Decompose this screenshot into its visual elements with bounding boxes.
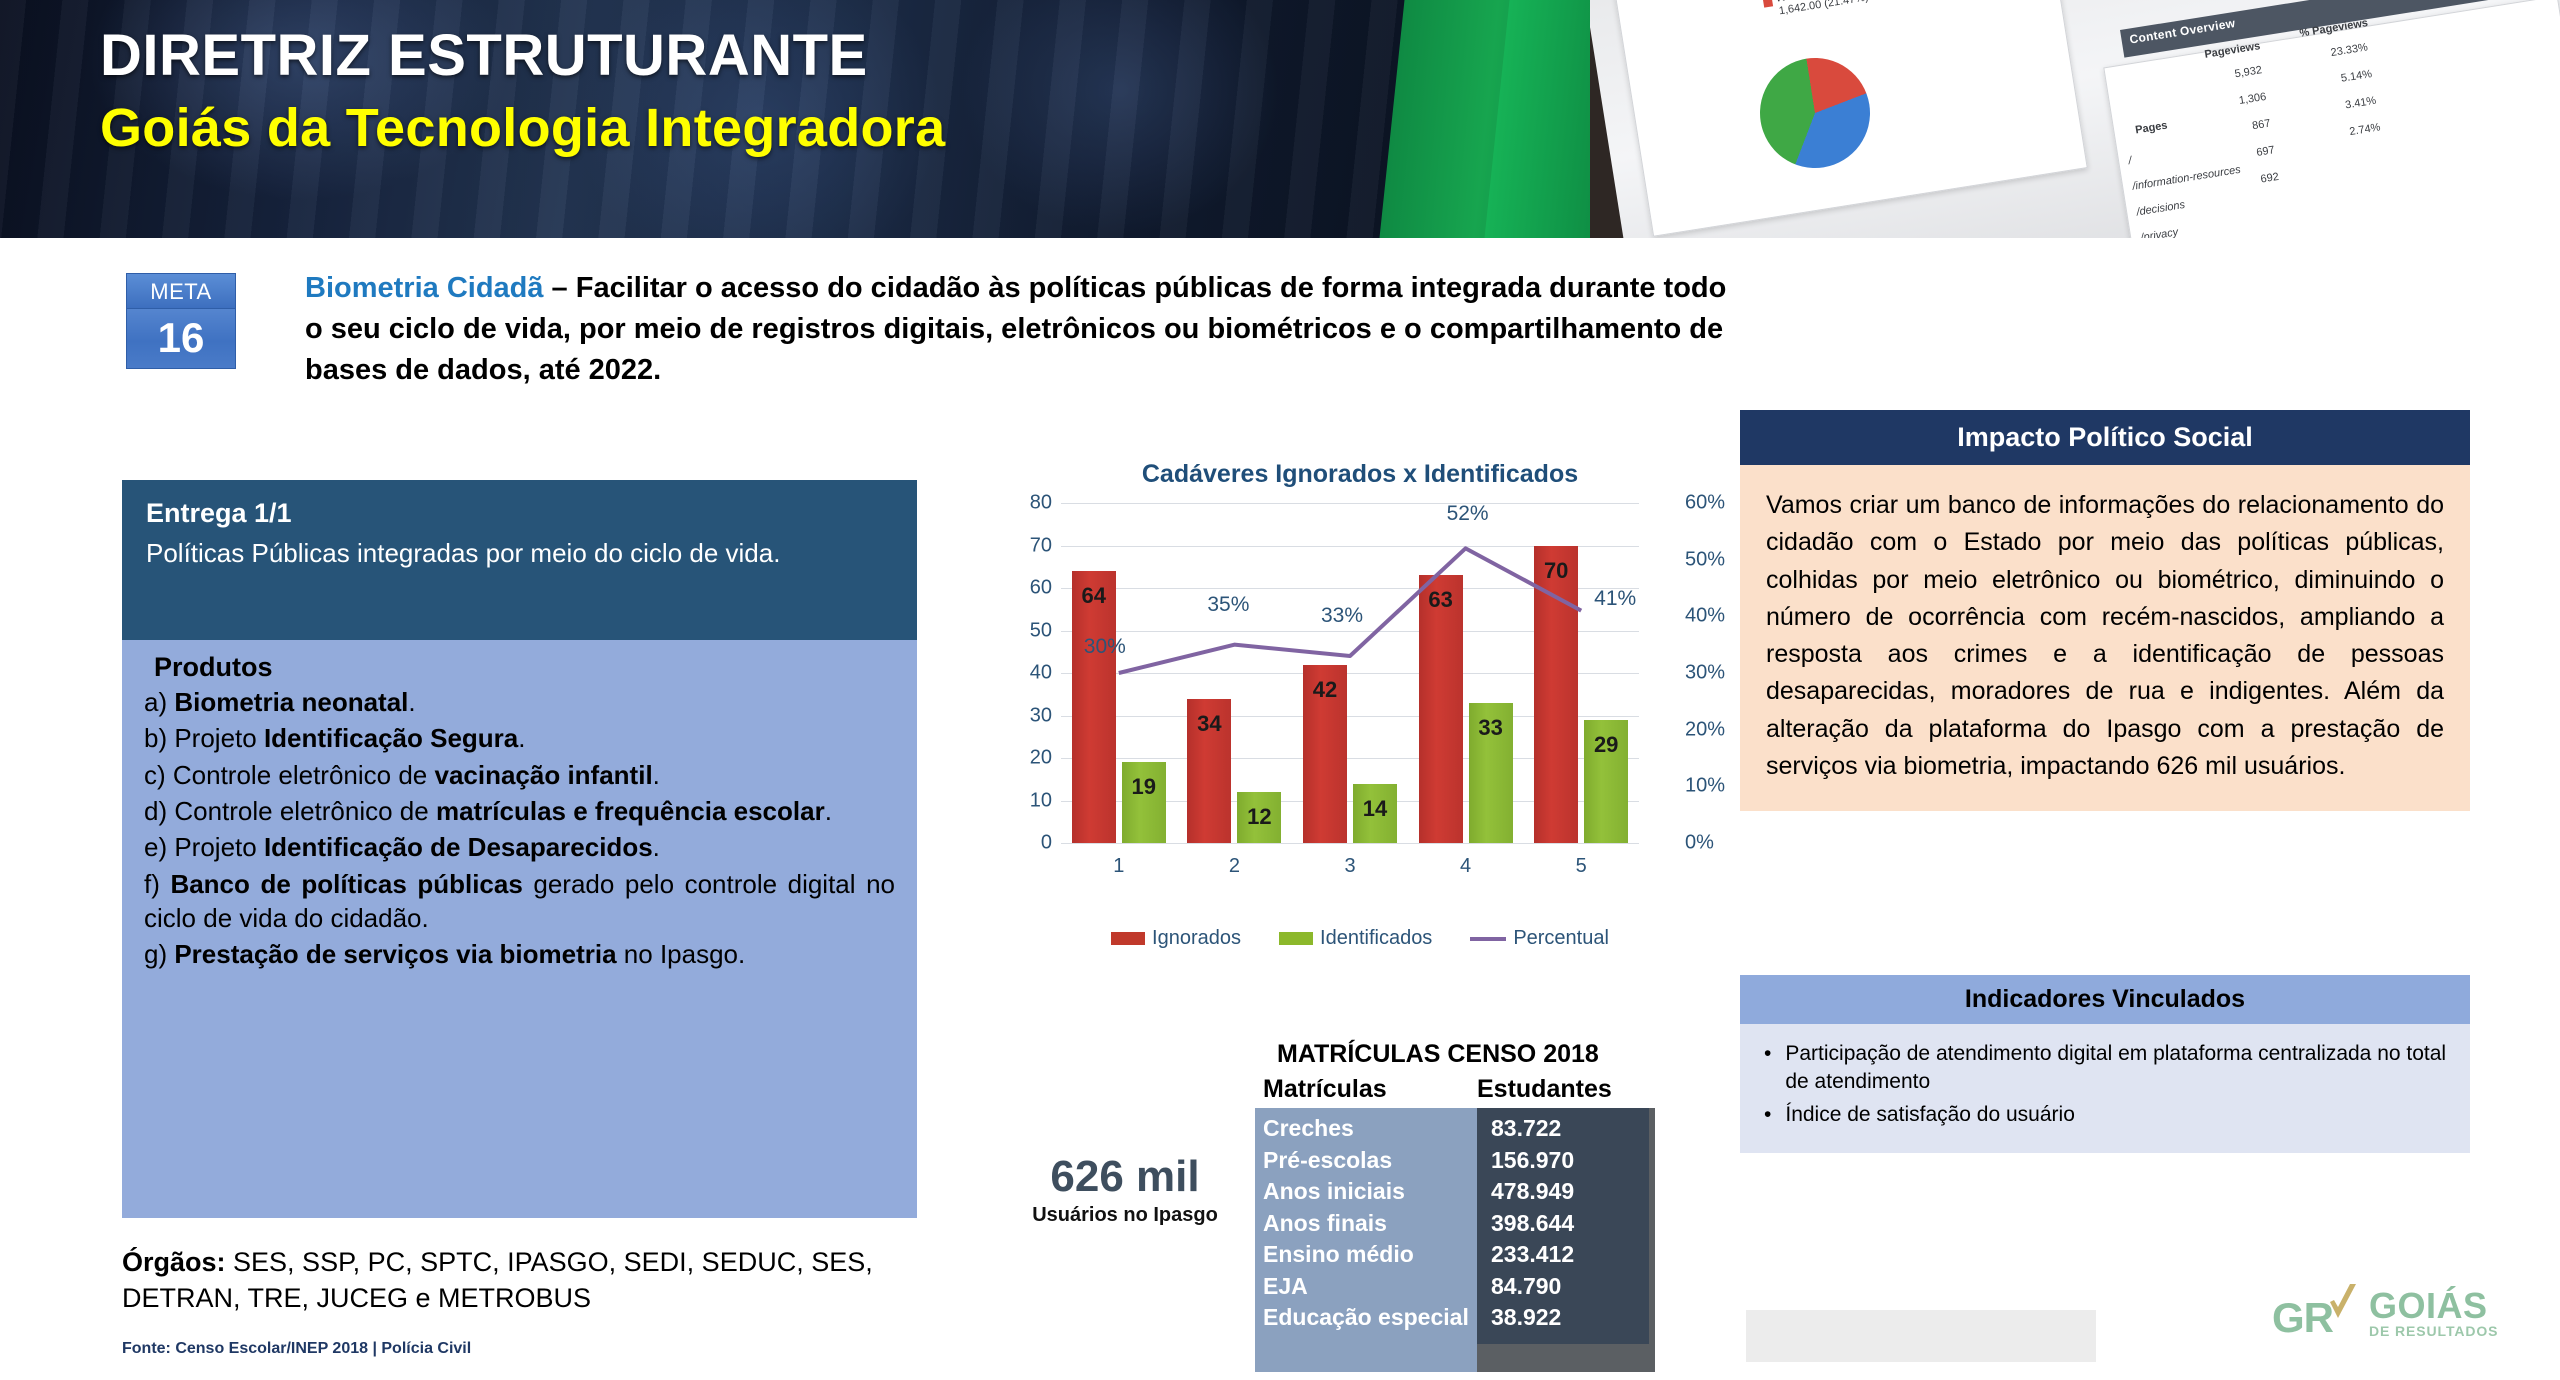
- matriculas-row-value: 84.790: [1491, 1271, 1649, 1303]
- page-subtitle: Goiás da Tecnologia Integradora: [100, 99, 945, 158]
- chart-y2-tick: 60%: [1685, 492, 1725, 515]
- produto-highlight: matrículas e frequência escolar: [436, 796, 825, 826]
- produto-prefix: a): [144, 687, 174, 717]
- legend-swatch-ignorados: [1111, 932, 1145, 945]
- produtos-panel: Produtos a) Biometria neonatal.b) Projet…: [122, 640, 917, 1218]
- content-col-pages-label: Pages: [2134, 120, 2168, 137]
- indicador-text: Índice de satisfação do usuário: [1785, 1101, 2075, 1129]
- produto-prefix: g): [144, 939, 174, 969]
- empty-placeholder-box: [1746, 1310, 2096, 1362]
- produto-item: b) Projeto Identificação Segura.: [144, 721, 895, 755]
- impacto-text: Vamos criar um banco de informações do r…: [1740, 465, 2470, 811]
- chart-percent-label: 41%: [1594, 587, 1636, 611]
- chart-title: Cadáveres Ignorados x Identificados: [995, 460, 1725, 489]
- legend-label-percentual: Percentual: [1513, 927, 1609, 950]
- produto-suffix: .: [653, 760, 660, 790]
- big-number-block: 626 mil Usuários no Ipasgo: [1000, 1152, 1250, 1227]
- logo-goias-text: GOIÁS: [2369, 1285, 2488, 1326]
- chart-y-tick: 80: [1030, 492, 1052, 515]
- entrega-text: Políticas Públicas integradas por meio d…: [146, 536, 893, 571]
- logo-gr-text: GR: [2272, 1297, 2333, 1339]
- legend-item-percentual: Percentual: [1470, 927, 1609, 950]
- produto-suffix: .: [408, 687, 415, 717]
- produto-prefix: f): [144, 869, 170, 899]
- produto-highlight: Identificação de Desaparecidos: [264, 832, 653, 862]
- cadaveres-chart: Cadáveres Ignorados x Identificados 0102…: [995, 460, 1725, 960]
- chart-y-tick: 40: [1030, 662, 1052, 685]
- produto-highlight: Identificação Segura: [264, 723, 518, 753]
- chart-plot: 010203040506070800%10%20%30%40%50%60%641…: [1061, 503, 1639, 843]
- chart-plot-area: 010203040506070800%10%20%30%40%50%60%641…: [995, 493, 1725, 893]
- chart-y-tick: 30: [1030, 704, 1052, 727]
- chart-y2-tick: 50%: [1685, 548, 1725, 571]
- indicadores-title: Indicadores Vinculados: [1740, 975, 2470, 1024]
- produto-prefix: d) Controle eletrônico de: [144, 796, 436, 826]
- legend-item-ignorados: Ignorados: [1111, 927, 1241, 950]
- chart-y2-tick: 20%: [1685, 718, 1725, 741]
- chart-x-tick: 2: [1229, 855, 1240, 878]
- chart-x-tick: 1: [1113, 855, 1124, 878]
- big-number-caption: Usuários no Ipasgo: [1000, 1204, 1250, 1227]
- produto-prefix: e) Projeto: [144, 832, 264, 862]
- chart-percentual-line: [1061, 503, 1639, 843]
- legend-label-identificados: Identificados: [1320, 927, 1432, 950]
- page-title: DIRETRIZ ESTRUTURANTE: [100, 26, 945, 87]
- produto-suffix: .: [518, 723, 525, 753]
- legend-line-percentual: [1470, 937, 1506, 941]
- matriculas-row-value: 38.922: [1491, 1302, 1649, 1334]
- chart-percent-label: 33%: [1321, 604, 1363, 628]
- indicador-text: Participação de atendimento digital em p…: [1785, 1040, 2450, 1097]
- produto-item: g) Prestação de serviços via biometria n…: [144, 937, 895, 971]
- meta-highlight: Biometria Cidadã: [305, 272, 544, 304]
- chart-gridline: [1061, 843, 1639, 844]
- matriculas-row-label: Creches: [1263, 1113, 1477, 1145]
- produto-suffix: .: [825, 796, 832, 826]
- matriculas-row-value: 233.412: [1491, 1239, 1649, 1271]
- produto-highlight: Biometria neonatal: [174, 687, 408, 717]
- chart-y-tick: 50: [1030, 619, 1052, 642]
- chart-y-tick: 60: [1030, 577, 1052, 600]
- entrega-panel: Entrega 1/1 Políticas Públicas integrada…: [122, 480, 917, 640]
- chart-y-tick: 70: [1030, 534, 1052, 557]
- chart-y2-tick: 10%: [1685, 775, 1725, 798]
- matriculas-row-value: 83.722: [1491, 1113, 1649, 1145]
- matriculas-col-header-0: Matrículas: [1255, 1075, 1477, 1104]
- matriculas-labels-column: CrechesPré-escolasAnos iniciaisAnos fina…: [1255, 1108, 1477, 1372]
- chart-y-tick: 0: [1041, 832, 1052, 855]
- chart-percent-label: 35%: [1207, 593, 1249, 617]
- orgaos-line: Órgãos: SES, SSP, PC, SPTC, IPASGO, SEDI…: [122, 1245, 952, 1316]
- produtos-list: a) Biometria neonatal.b) Projeto Identif…: [144, 685, 895, 972]
- logo-right-block: GOIÁS DE RESULTADOS: [2369, 1288, 2498, 1339]
- produto-highlight: Banco de políticas públicas: [170, 869, 522, 899]
- meta-badge: META 16: [126, 273, 236, 369]
- indicador-item: •Participação de atendimento digital em …: [1764, 1040, 2450, 1097]
- legend-swatch-identificados: [1279, 932, 1313, 945]
- chart-y2-tick: 40%: [1685, 605, 1725, 628]
- matriculas-row-value: 156.970: [1491, 1145, 1649, 1177]
- matriculas-body: CrechesPré-escolasAnos iniciaisAnos fina…: [1255, 1108, 1655, 1372]
- chart-y2-tick: 30%: [1685, 662, 1725, 685]
- header-title-block: DIRETRIZ ESTRUTURANTE Goiás da Tecnologi…: [100, 26, 945, 158]
- produto-item: d) Controle eletrônico de matrículas e f…: [144, 794, 895, 828]
- matriculas-row-value: 398.644: [1491, 1208, 1649, 1240]
- header-banner: Traffic Source Overview Direct 3,097.00 …: [0, 0, 2560, 238]
- big-number-value: 626 mil: [1000, 1152, 1250, 1202]
- matriculas-row-label: Ensino médio: [1263, 1239, 1477, 1271]
- produto-suffix: no Ipasgo.: [617, 939, 746, 969]
- checkmark-icon: [2326, 1284, 2360, 1322]
- impacto-politico-social-panel: Impacto Político Social Vamos criar um b…: [1740, 410, 2470, 811]
- chart-x-tick: 4: [1460, 855, 1471, 878]
- produto-item: f) Banco de políticas públicas gerado pe…: [144, 867, 895, 936]
- matriculas-row-label: Anos iniciais: [1263, 1176, 1477, 1208]
- produto-prefix: b) Projeto: [144, 723, 264, 753]
- meta-badge-label: META: [126, 273, 236, 309]
- meta-badge-number: 16: [126, 309, 236, 369]
- chart-y2-tick: 0%: [1685, 832, 1714, 855]
- matriculas-row-label: Anos finais: [1263, 1208, 1477, 1240]
- logo-subtitle-text: DE RESULTADOS: [2369, 1324, 2498, 1339]
- chart-percent-label: 52%: [1447, 502, 1489, 526]
- content-overview-rows: / /information-resources /decisions /pri…: [2128, 138, 2252, 238]
- chart-y-tick: 10: [1030, 789, 1052, 812]
- matriculas-values-column: 83.722156.970478.949398.644233.41284.790…: [1477, 1108, 1655, 1372]
- matriculas-table: MATRÍCULAS CENSO 2018 Matrículas Estudan…: [1255, 1040, 1655, 1372]
- matriculas-title: MATRÍCULAS CENSO 2018: [1277, 1040, 1655, 1069]
- logo-row: GR GOIÁS DE RESULTADOS: [2272, 1288, 2522, 1339]
- indicador-item: •Índice de satisfação do usuário: [1764, 1101, 2450, 1129]
- bullet-icon: •: [1764, 1040, 1771, 1097]
- gr-goias-logo: GR GOIÁS DE RESULTADOS: [2272, 1288, 2522, 1339]
- orgaos-label: Órgãos:: [122, 1247, 226, 1277]
- chart-x-tick: 5: [1576, 855, 1587, 878]
- impacto-title: Impacto Político Social: [1740, 410, 2470, 465]
- matriculas-row-label: Educação especial: [1263, 1302, 1477, 1334]
- matriculas-row-label: EJA: [1263, 1271, 1477, 1303]
- matriculas-row-label: Pré-escolas: [1263, 1145, 1477, 1177]
- produto-highlight: Prestação de serviços via biometria: [174, 939, 616, 969]
- source-note: Fonte: Censo Escolar/INEP 2018 | Polícia…: [122, 1340, 471, 1358]
- produto-item: c) Controle eletrônico de vacinação infa…: [144, 758, 895, 792]
- chart-x-tick: 3: [1344, 855, 1355, 878]
- chart-y-tick: 20: [1030, 747, 1052, 770]
- chart-percent-label: 30%: [1084, 635, 1126, 659]
- produto-item: e) Projeto Identificação de Desaparecido…: [144, 830, 895, 864]
- chart-legend: Ignorados Identificados Percentual: [995, 927, 1725, 950]
- matriculas-row-value: 478.949: [1491, 1176, 1649, 1208]
- entrega-title: Entrega 1/1: [146, 498, 893, 529]
- legend-item-identificados: Identificados: [1279, 927, 1432, 950]
- indicadores-list: •Participação de atendimento digital em …: [1740, 1024, 2470, 1153]
- matriculas-col-header-1: Estudantes: [1477, 1075, 1612, 1104]
- produto-highlight: vacinação infantil: [434, 760, 652, 790]
- produto-prefix: c) Controle eletrônico de: [144, 760, 434, 790]
- meta-description: Biometria Cidadã – Facilitar o acesso do…: [305, 268, 1745, 392]
- produtos-title: Produtos: [154, 652, 895, 683]
- header-dashboard-photo: Traffic Source Overview Direct 3,097.00 …: [1590, 0, 2560, 238]
- legend-label-ignorados: Ignorados: [1152, 927, 1241, 950]
- produto-item: a) Biometria neonatal.: [144, 685, 895, 719]
- indicadores-vinculados-panel: Indicadores Vinculados •Participação de …: [1740, 975, 2470, 1153]
- bullet-icon: •: [1764, 1101, 1771, 1129]
- orgaos-list: SES, SSP, PC, SPTC, IPASGO, SEDI, SEDUC,…: [122, 1247, 873, 1313]
- matriculas-header-row: Matrículas Estudantes: [1255, 1075, 1655, 1104]
- produto-suffix: .: [653, 832, 660, 862]
